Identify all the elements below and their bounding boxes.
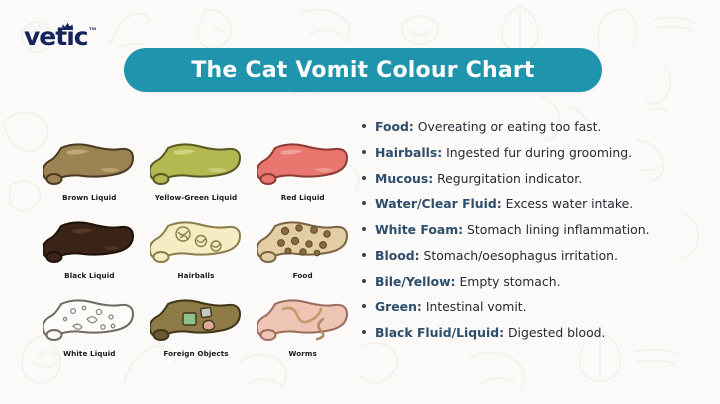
list-item-desc: Ingested fur during grooming. [442,145,632,160]
swatch-label: White Liquid [63,349,115,358]
list-item-term: Black Fluid/Liquid: [375,325,504,340]
yellow-green-liquid-blob-icon [146,136,246,192]
list-item-desc: Digested blood. [504,325,605,340]
list-item-text: Blood: Stomach/oesophagus irritation. [375,249,618,263]
swatch-cell-foreign-objects[interactable]: Foreign Objects [143,292,250,370]
list-item: Hairballs: Ingested fur during grooming. [362,146,712,160]
black-liquid-blob-icon [39,214,139,270]
list-item-desc: Excess water intake. [502,196,633,211]
swatch-label: Foreign Objects [163,349,228,358]
logo-crown-icon [61,18,74,36]
list-item-text: Bile/Yellow: Empty stomach. [375,275,561,289]
bullet-icon [362,227,366,231]
list-item-desc: Stomach/oesophagus irritation. [420,248,618,263]
list-item-term: Green: [375,299,422,314]
swatch-cell-food[interactable]: Food [249,214,356,292]
list-item-term: Mucous: [375,171,433,186]
swatch-label: Brown Liquid [62,193,116,202]
bullet-icon [362,304,366,308]
swatch-label: Food [293,271,313,280]
swatch-cell-yellow-green-liquid[interactable]: Yellow-Green Liquid [143,136,250,214]
list-item-term: Blood: [375,248,420,263]
list-item-text: Food: Overeating or eating too fast. [375,120,601,134]
bullet-icon [362,201,366,205]
list-item-term: White Foam: [375,222,463,237]
swatch-row-3: White Liquid [36,292,356,370]
vomit-swatch-grid: Brown Liquid Yellow-Green Liquid [36,136,356,370]
list-item: Water/Clear Fluid: Excess water intake. [362,197,712,211]
worms-blob-icon [253,292,353,348]
list-item-text: White Foam: Stomach lining inflammation. [375,223,650,237]
swatch-label: Worms [288,349,316,358]
list-item-text: Water/Clear Fluid: Excess water intake. [375,197,633,211]
title-banner: The Cat Vomit Colour Chart [124,48,602,92]
bullet-icon [362,150,366,154]
list-item-term: Hairballs: [375,145,442,160]
list-item: Green: Intestinal vomit. [362,300,712,314]
swatch-cell-black-liquid[interactable]: Black Liquid [36,214,143,292]
food-blob-icon [253,214,353,270]
list-item-text: Hairballs: Ingested fur during grooming. [375,146,632,160]
white-liquid-blob-icon [39,292,139,348]
list-item-desc: Stomach lining inflammation. [463,222,649,237]
list-item: White Foam: Stomach lining inflammation. [362,223,712,237]
swatch-label: Red Liquid [281,193,325,202]
red-liquid-blob-icon [253,136,353,192]
swatch-cell-worms[interactable]: Worms [249,292,356,370]
list-item-term: Food: [375,119,414,134]
swatch-label: Hairballs [178,271,215,280]
page-title: The Cat Vomit Colour Chart [191,58,534,83]
swatch-label: Yellow-Green Liquid [155,193,238,202]
list-item-desc: Empty stomach. [456,274,561,289]
swatch-label: Black Liquid [64,271,114,280]
foreign-objects-blob-icon [146,292,246,348]
logo-wordmark: vetic [24,24,88,49]
bullet-icon [362,176,366,180]
bullet-icon [362,253,366,257]
bullet-icon [362,124,366,128]
trademark-symbol: ™ [89,26,97,35]
list-item: Food: Overeating or eating too fast. [362,120,712,134]
bullet-icon [362,279,366,283]
swatch-cell-hairballs[interactable]: Hairballs [143,214,250,292]
list-item-text: Green: Intestinal vomit. [375,300,527,314]
list-item-term: Bile/Yellow: [375,274,456,289]
swatch-cell-red-liquid[interactable]: Red Liquid [249,136,356,214]
brown-liquid-blob-icon [39,136,139,192]
list-item: Mucous: Regurgitation indicator. [362,172,712,186]
swatch-cell-white-liquid[interactable]: White Liquid [36,292,143,370]
list-item-desc: Overeating or eating too fast. [414,119,602,134]
list-item-text: Mucous: Regurgitation indicator. [375,172,582,186]
list-item-desc: Intestinal vomit. [422,299,527,314]
list-item: Bile/Yellow: Empty stomach. [362,275,712,289]
bullet-icon [362,330,366,334]
infographic-canvas: vetic ™ The Cat Vomit Colour Chart [0,0,720,404]
swatch-row-2: Black Liquid [36,214,356,292]
vetic-logo[interactable]: vetic ™ [24,24,97,49]
list-item: Black Fluid/Liquid: Digested blood. [362,326,712,340]
list-item-term: Water/Clear Fluid: [375,196,502,211]
list-item-text: Black Fluid/Liquid: Digested blood. [375,326,605,340]
swatch-row-1: Brown Liquid Yellow-Green Liquid [36,136,356,214]
list-item: Blood: Stomach/oesophagus irritation. [362,249,712,263]
hairballs-blob-icon [146,214,246,270]
swatch-cell-brown-liquid[interactable]: Brown Liquid [36,136,143,214]
list-item-desc: Regurgitation indicator. [433,171,582,186]
causes-list: Food: Overeating or eating too fast. Hai… [362,120,712,352]
